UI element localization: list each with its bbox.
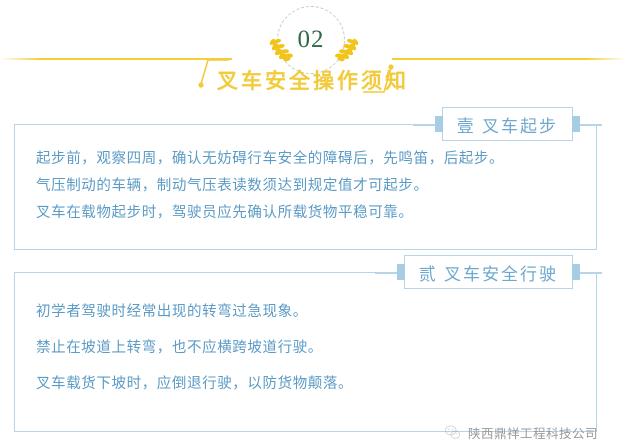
footer-watermark: 陕西鼎祥工程科技公司 [0, 416, 626, 448]
section-header-label: 壹 叉车起步 [457, 112, 558, 137]
header-connector-right [580, 124, 602, 126]
decorative-bracket-right-icon [362, 58, 396, 94]
header-ear-left [435, 116, 443, 132]
footer-brand-label: 陕西鼎祥工程科技公司 [468, 423, 598, 442]
header-connector-left [413, 124, 435, 126]
page-title: 叉车安全操作须知 [191, 65, 435, 95]
section-body-1: 起步前，观察四周，确认无妨碍行车安全的障碍后，先鸣笛，后起步。 气压制动的车辆，… [36, 146, 579, 227]
section-header-2: 贰 叉车安全行驶 [404, 255, 573, 289]
header-ear-right [572, 116, 580, 132]
header-ear-right [572, 264, 580, 280]
section-forklift-startup: 壹 叉车起步 起步前，观察四周，确认无妨碍行车安全的障碍后，先鸣笛，后起步。 气… [14, 124, 597, 250]
header-connector-left [375, 272, 397, 274]
header-ear-left [397, 264, 405, 280]
section-body-2: 初学者驾驶时经常出现的转弯过急现象。 禁止在坡道上转弯，也不应横跨坡道行驶。 叉… [36, 294, 579, 402]
wechat-icon [444, 424, 461, 441]
section-header-label: 贰 叉车安全行驶 [419, 260, 558, 285]
main-title-wrap: 叉车安全操作须知 [0, 62, 626, 98]
body-line: 起步前，观察四周，确认无妨碍行车安全的障碍后，先鸣笛，后起步。 [36, 146, 579, 173]
section-header-1: 壹 叉车起步 [442, 107, 573, 141]
body-line: 气压制动的车辆，制动气压表读数须达到规定值才可起步。 [36, 173, 579, 200]
body-line: 禁止在坡道上转弯，也不应横跨坡道行驶。 [36, 330, 579, 366]
section-safe-driving: 贰 叉车安全行驶 初学者驾驶时经常出现的转弯过急现象。 禁止在坡道上转弯，也不应… [14, 272, 597, 432]
body-line: 初学者驾驶时经常出现的转弯过急现象。 [36, 294, 579, 330]
body-line: 叉车载货下坡时，应倒退行驶，以防货物颠落。 [36, 366, 579, 402]
header-connector-right [580, 272, 602, 274]
body-line: 叉车在载物起步时，驾驶员应先确认所载货物平稳可靠。 [36, 200, 579, 227]
